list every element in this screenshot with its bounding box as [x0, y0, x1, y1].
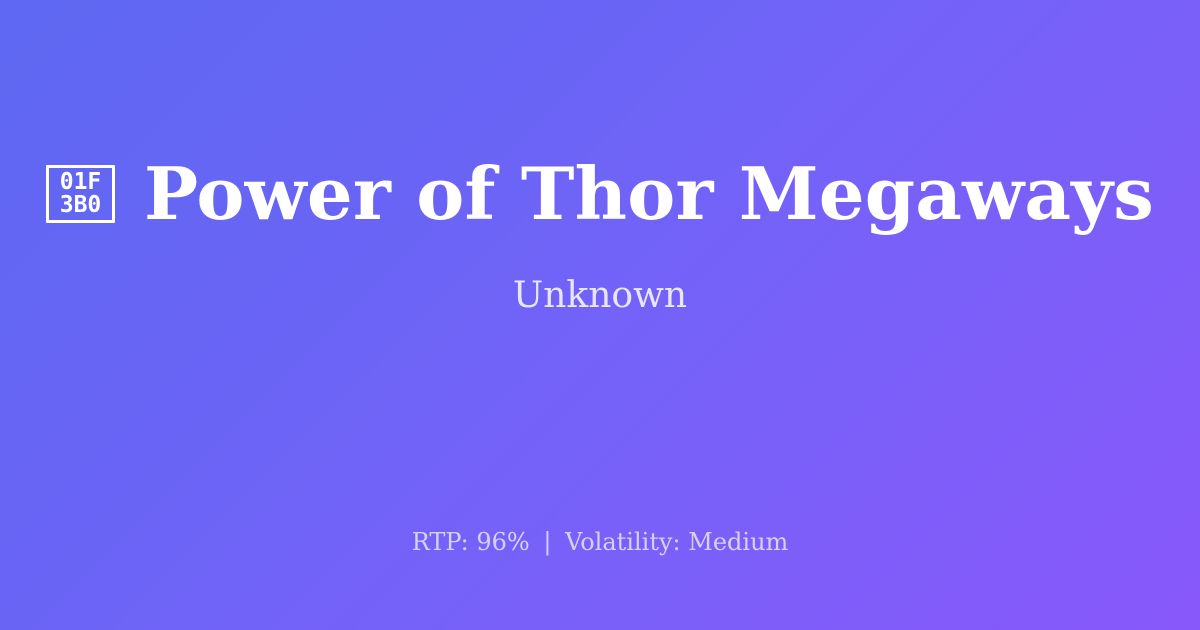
meta-volatility-label: Volatility: — [565, 528, 681, 556]
game-provider-subtitle: Unknown — [513, 274, 687, 318]
slot-machine-icon-codepoint-bottom: 3B0 — [60, 194, 102, 217]
slot-machine-icon: 01F 3B0 — [46, 165, 115, 223]
page-title: 01F 3B0 Power of Thor Megaways — [46, 152, 1154, 236]
meta-rtp-value: 96% — [476, 528, 529, 556]
og-card: 01F 3B0 Power of Thor Megaways Unknown R… — [0, 0, 1200, 630]
game-title-text: Power of Thor Megaways — [144, 152, 1154, 236]
slot-machine-icon-codepoint-top: 01F — [60, 171, 102, 194]
meta-separator: | — [537, 528, 557, 556]
meta-volatility-value: Medium — [688, 528, 788, 556]
game-meta-line: RTP: 96% | Volatility: Medium — [0, 527, 1200, 557]
hero-section: 01F 3B0 Power of Thor Megaways Unknown — [0, 0, 1200, 470]
meta-rtp-label: RTP: — [412, 528, 469, 556]
